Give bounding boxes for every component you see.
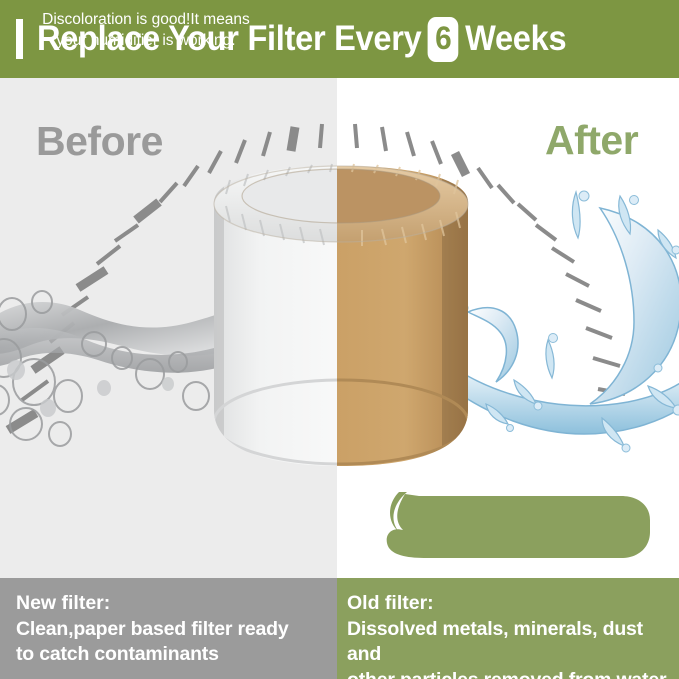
water-splash-blue-icon xyxy=(452,190,679,455)
callout-text: Discoloration is good!It means your humi… xyxy=(26,10,266,52)
speech-bubble-icon xyxy=(381,492,652,560)
old-filter-caption-title: Old filter: xyxy=(347,591,679,617)
old-filter-caption: Old filter: Dissolved metals, minerals, … xyxy=(337,578,679,679)
after-label: After xyxy=(545,117,638,164)
new-filter-caption-title: New filter: xyxy=(16,591,337,617)
old-filter-caption-body: Dissolved metals, minerals, dust and oth… xyxy=(347,617,679,679)
product-comparison-poster: Replace Your Filter Every 6 Weeks xyxy=(0,0,679,679)
new-filter-caption-body: Clean,paper based filter ready to catch … xyxy=(16,617,337,668)
new-filter-caption: New filter: Clean,paper based filter rea… xyxy=(0,578,337,679)
before-label: Before xyxy=(36,118,163,165)
header-title-part2: Weeks xyxy=(465,19,566,59)
honeycomb-filter-image xyxy=(196,160,486,480)
vertical-rule-icon xyxy=(16,19,23,59)
weeks-count-badge: 6 xyxy=(428,17,459,62)
